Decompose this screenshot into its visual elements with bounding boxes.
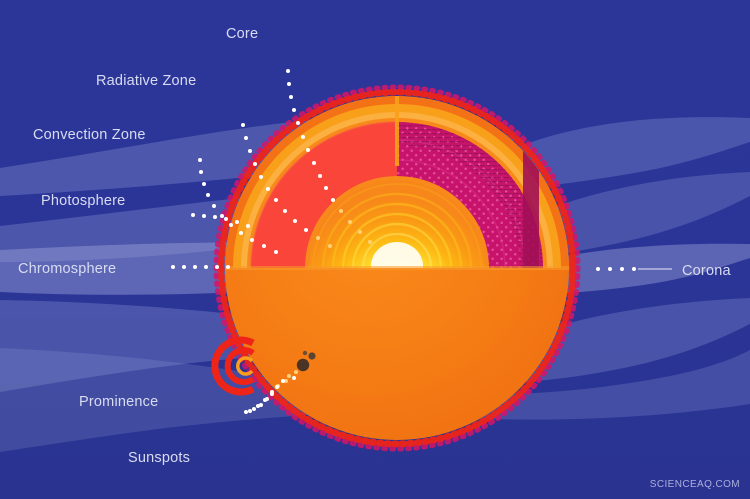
cutaway-seam (395, 96, 399, 166)
label-prominence: Prominence (79, 394, 158, 410)
label-core: Core (226, 26, 258, 42)
label-convection-zone: Convection Zone (33, 127, 146, 143)
label-chromosphere: Chromosphere (18, 261, 116, 277)
radiative-cut-face (523, 150, 539, 268)
label-corona: Corona (682, 263, 731, 279)
watermark: SCIENCEAQ.COM (650, 479, 740, 490)
diagram-canvas: Core Radiative Zone Convection Zone Phot… (0, 0, 750, 499)
sun-structure-diagram: Core Radiative Zone Convection Zone Phot… (0, 0, 750, 499)
cut-plane (225, 266, 570, 270)
label-photosphere: Photosphere (41, 193, 125, 209)
label-sunspots: Sunspots (128, 450, 190, 466)
label-radiative-zone: Radiative Zone (96, 73, 196, 89)
